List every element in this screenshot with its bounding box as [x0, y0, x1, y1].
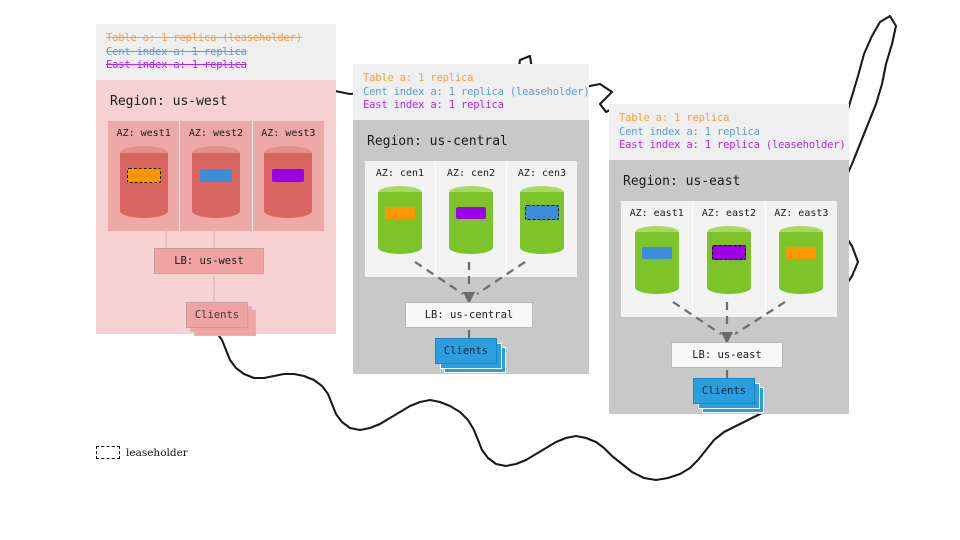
az-label: AZ: west2 [189, 128, 243, 139]
az-cell-cen3[interactable]: AZ: cen3 [506, 161, 577, 277]
legend-line-table: Table a: 1 replica (leaseholder) [106, 32, 326, 46]
az-cell-west3[interactable]: AZ: west3 [252, 121, 324, 231]
leaseholder-key: leaseholder [96, 446, 188, 459]
legend-line-table: Table a: 1 replica [363, 72, 579, 86]
leaseholder-key-label: leaseholder [126, 447, 188, 459]
clients-stack-us-west[interactable]: Clients [186, 302, 258, 338]
region-panel-us-east[interactable]: Table a: 1 replica Cent index a: 1 repli… [609, 104, 849, 414]
clients-label: Clients [702, 385, 746, 397]
az-strip-us-central: AZ: cen1 AZ: cen2 [365, 161, 577, 277]
region-body-us-east: Region: us-east AZ: east1 AZ: east2 [609, 160, 849, 414]
dashed-rectangle-icon [96, 446, 120, 459]
node-cylinder-east1[interactable] [635, 226, 679, 294]
region-panel-us-central[interactable]: Table a: 1 replica Cent index a: 1 repli… [353, 64, 589, 374]
az-cell-cen2[interactable]: AZ: cen2 [435, 161, 506, 277]
region-title: Region: us-east [623, 174, 837, 189]
clients-label: Clients [444, 345, 488, 357]
cylinder-bottom [449, 241, 493, 254]
az-cell-east3[interactable]: AZ: east3 [765, 201, 837, 317]
az-cell-west1[interactable]: AZ: west1 [108, 121, 179, 231]
clients-card-front[interactable]: Clients [693, 378, 755, 404]
node-cylinder-cen1[interactable] [378, 186, 422, 254]
load-balancer-us-east[interactable]: LB: us-east [671, 342, 783, 368]
clients-stack-us-east[interactable]: Clients [693, 378, 771, 416]
cylinder-bottom [779, 281, 823, 294]
cylinder-bottom [192, 204, 240, 218]
az-label: AZ: cen1 [376, 168, 424, 179]
az-cell-east2[interactable]: AZ: east2 [692, 201, 764, 317]
clients-stack-us-central[interactable]: Clients [435, 338, 513, 376]
legend-line-east: East index a: 1 replica [363, 99, 579, 113]
cylinder-body [520, 192, 564, 248]
node-cylinder-east2[interactable] [707, 226, 751, 294]
node-cylinder-cen2[interactable] [449, 186, 493, 254]
region-body-us-central: Region: us-central AZ: cen1 AZ: cen2 [353, 120, 589, 374]
replica-chip-cent[interactable] [200, 169, 232, 182]
cylinder-bottom [520, 241, 564, 254]
node-cylinder-east3[interactable] [779, 226, 823, 294]
clients-card-front[interactable]: Clients [435, 338, 497, 364]
cylinder-bottom [120, 204, 168, 218]
az-label: AZ: east2 [702, 208, 756, 219]
cylinder-body [779, 232, 823, 288]
replica-chip-table[interactable] [385, 207, 415, 219]
replica-chip-cent[interactable] [642, 247, 672, 259]
region-panel-us-west[interactable]: Table a: 1 replica (leaseholder) Cent in… [96, 24, 336, 334]
replica-chip-table[interactable] [786, 247, 816, 259]
load-balancer-us-west[interactable]: LB: us-west [154, 248, 264, 274]
node-cylinder-cen3[interactable] [520, 186, 564, 254]
cylinder-bottom [378, 241, 422, 254]
legend-line-cent: Cent index a: 1 replica (leaseholder) [363, 86, 579, 100]
legend-line-east: East index a: 1 replica [106, 59, 326, 73]
az-cell-east1[interactable]: AZ: east1 [621, 201, 692, 317]
diagram-canvas: Table a: 1 replica (leaseholder) Cent in… [0, 0, 960, 540]
cylinder-body [707, 232, 751, 288]
region-title: Region: us-central [367, 134, 577, 149]
az-label: AZ: west3 [261, 128, 315, 139]
cylinder-body [192, 153, 240, 211]
az-label: AZ: cen2 [447, 168, 495, 179]
cylinder-body [264, 153, 312, 211]
node-cylinder-west1[interactable] [120, 146, 168, 218]
node-cylinder-west3[interactable] [264, 146, 312, 218]
replica-chip-cent-leaseholder[interactable] [525, 205, 559, 220]
clients-label: Clients [195, 309, 239, 321]
replica-chip-east[interactable] [272, 169, 304, 182]
az-cell-west2[interactable]: AZ: west2 [179, 121, 251, 231]
region-title: Region: us-west [110, 94, 324, 109]
load-balancer-us-central[interactable]: LB: us-central [405, 302, 533, 328]
az-label: AZ: east1 [630, 208, 684, 219]
legend-band-us-central: Table a: 1 replica Cent index a: 1 repli… [353, 64, 589, 120]
cylinder-bottom [707, 281, 751, 294]
az-label: AZ: east3 [774, 208, 828, 219]
cylinder-body [449, 192, 493, 248]
cylinder-bottom [264, 204, 312, 218]
replica-chip-table-leaseholder[interactable] [127, 168, 161, 183]
cylinder-body [378, 192, 422, 248]
region-body-us-west: Region: us-west AZ: west1 AZ: west2 [96, 80, 336, 334]
az-label: AZ: cen3 [518, 168, 566, 179]
lb-label: LB: us-east [692, 349, 762, 361]
legend-line-east: East index a: 1 replica (leaseholder) [619, 139, 839, 153]
lb-label: LB: us-central [425, 309, 514, 321]
legend-band-us-west: Table a: 1 replica (leaseholder) Cent in… [96, 24, 336, 80]
az-label: AZ: west1 [117, 128, 171, 139]
az-strip-us-east: AZ: east1 AZ: east2 [621, 201, 837, 317]
replica-chip-east[interactable] [456, 207, 486, 219]
legend-line-cent: Cent index a: 1 replica [106, 46, 326, 60]
cylinder-body [635, 232, 679, 288]
az-cell-cen1[interactable]: AZ: cen1 [365, 161, 435, 277]
lb-label: LB: us-west [174, 255, 244, 267]
legend-band-us-east: Table a: 1 replica Cent index a: 1 repli… [609, 104, 849, 160]
legend-line-table: Table a: 1 replica [619, 112, 839, 126]
az-strip-us-west: AZ: west1 AZ: west2 [108, 121, 324, 231]
node-cylinder-west2[interactable] [192, 146, 240, 218]
clients-card-front[interactable]: Clients [186, 302, 248, 328]
legend-line-cent: Cent index a: 1 replica [619, 126, 839, 140]
cylinder-bottom [635, 281, 679, 294]
replica-chip-east-leaseholder[interactable] [712, 245, 746, 260]
